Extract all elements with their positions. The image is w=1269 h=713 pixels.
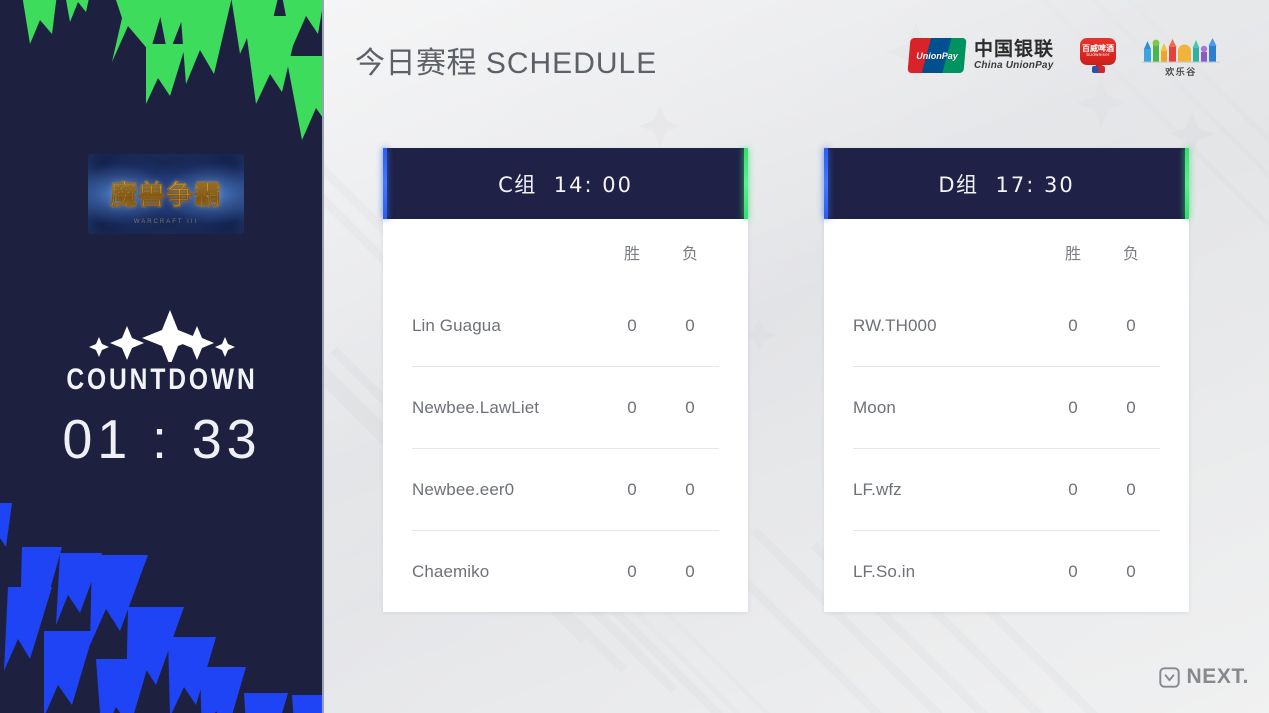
table-row: Moon 0 0 [853,367,1160,449]
happy-valley-name: 欢乐谷 [1165,65,1197,78]
group-header-text: D组17: 30 [938,169,1074,199]
player-losses: 0 [661,480,719,500]
stars-decoration-icon [0,300,324,362]
player-name: Lin Guagua [412,316,603,336]
player-losses: 0 [661,316,719,336]
unionpay-mark-icon: UnionPay [907,38,966,73]
left-sidebar: 魔兽争霸 WARCRAFT III COUNTDOW [0,0,324,713]
countdown-label: COUNTDOWN [29,363,295,397]
table-row: Newbee.eer0 0 0 [412,449,719,531]
unionpay-wordmark: 中国银联 China UnionPay [974,40,1054,71]
player-wins: 0 [603,480,661,500]
player-name: Newbee.eer0 [412,480,603,500]
player-name: RW.TH000 [853,316,1044,336]
unionpay-mark-text: UnionPay [909,38,965,73]
happy-valley-skyline-icon [1142,33,1220,63]
blue-lightning-graphic [0,503,324,713]
player-wins: 0 [1044,480,1102,500]
main-content: 今日赛程 SCHEDULE UnionPay 中国银联 China UnionP… [324,0,1269,713]
group-card-body: 胜 负 RW.TH000 0 0 Moon 0 0 LF.wfz 0 0 [824,219,1189,612]
player-losses: 0 [1102,398,1160,418]
countdown-block: COUNTDOWN 01 : 33 [0,300,324,471]
next-brand-logo: NEXT. [1159,665,1249,689]
group-card: D组17: 30 胜 负 RW.TH000 0 0 Moon 0 0 [824,148,1189,612]
group-card-header: D组17: 30 [824,148,1189,219]
group-header-text: C组14: 00 [498,169,633,199]
player-losses: 0 [1102,480,1160,500]
player-losses: 0 [1102,316,1160,336]
bubble-name-cn: 百威啤酒 [1082,44,1114,53]
table-row: LF.So.in 0 0 [853,531,1160,612]
unionpay-name-cn: 中国银联 [974,40,1054,60]
warcraft-logo: 魔兽争霸 WARCRAFT III [88,154,244,234]
player-wins: 0 [1044,316,1102,336]
player-name: LF.wfz [853,480,1044,500]
bubble-chip-shape [1092,66,1105,73]
unionpay-name-en: China UnionPay [974,61,1054,72]
countdown-timer: 01 : 33 [3,407,321,471]
group-time: 14: 00 [554,173,633,197]
player-wins: 0 [1044,398,1102,418]
table-row: Chaemiko 0 0 [412,531,719,612]
table-row: Lin Guagua 0 0 [412,285,719,367]
player-losses: 0 [1102,562,1160,582]
player-wins: 0 [603,316,661,336]
group-time: 17: 30 [995,173,1074,197]
green-lightning-graphic [0,0,324,175]
sponsor-bubble-logo: 百威啤酒 budweiser [1080,36,1116,76]
column-headers: 胜 负 [853,219,1160,285]
broadcast-schedule-screen: 魔兽争霸 WARCRAFT III COUNTDOW [0,0,1269,713]
player-wins: 0 [603,398,661,418]
column-headers: 胜 负 [412,219,719,285]
group-card-body: 胜 负 Lin Guagua 0 0 Newbee.LawLiet 0 0 Ne… [383,219,748,612]
player-name: LF.So.in [853,562,1044,582]
group-card: C组14: 00 胜 负 Lin Guagua 0 0 Newbee.LawLi… [383,148,748,612]
player-wins: 0 [603,562,661,582]
bubble-logo-text: 百威啤酒 budweiser [1080,38,1116,65]
player-name: Chaemiko [412,562,603,582]
group-label: C组 [498,173,537,197]
column-header-losses: 负 [1102,240,1160,264]
table-row: Newbee.LawLiet 0 0 [412,367,719,449]
sponsor-happy-valley: 欢乐谷 [1142,33,1220,78]
next-wordmark: NEXT. [1186,665,1249,689]
page-title-en: SCHEDULE [486,47,657,80]
group-card-header: C组14: 00 [383,148,748,219]
warcraft-logo-subtitle: WARCRAFT III [88,219,244,225]
sponsor-bar: UnionPay 中国银联 China UnionPay 百威啤酒 budwei… [909,33,1220,78]
player-name: Newbee.LawLiet [412,398,603,418]
table-row: LF.wfz 0 0 [853,449,1160,531]
page-title-cn: 今日赛程 [355,46,477,81]
warcraft-logo-text: 魔兽争霸 [88,174,244,213]
player-wins: 0 [1044,562,1102,582]
page-title: 今日赛程 SCHEDULE [355,38,657,82]
group-label: D组 [938,173,978,197]
bubble-name-sub: budweiser [1086,53,1109,58]
player-losses: 0 [661,398,719,418]
sponsor-unionpay: UnionPay 中国银联 China UnionPay [909,38,1054,73]
player-name: Moon [853,398,1044,418]
column-header-wins: 胜 [603,240,661,264]
table-row: RW.TH000 0 0 [853,285,1160,367]
next-mark-icon [1159,667,1180,688]
column-header-wins: 胜 [1044,240,1102,264]
column-header-losses: 负 [661,240,719,264]
player-losses: 0 [661,562,719,582]
